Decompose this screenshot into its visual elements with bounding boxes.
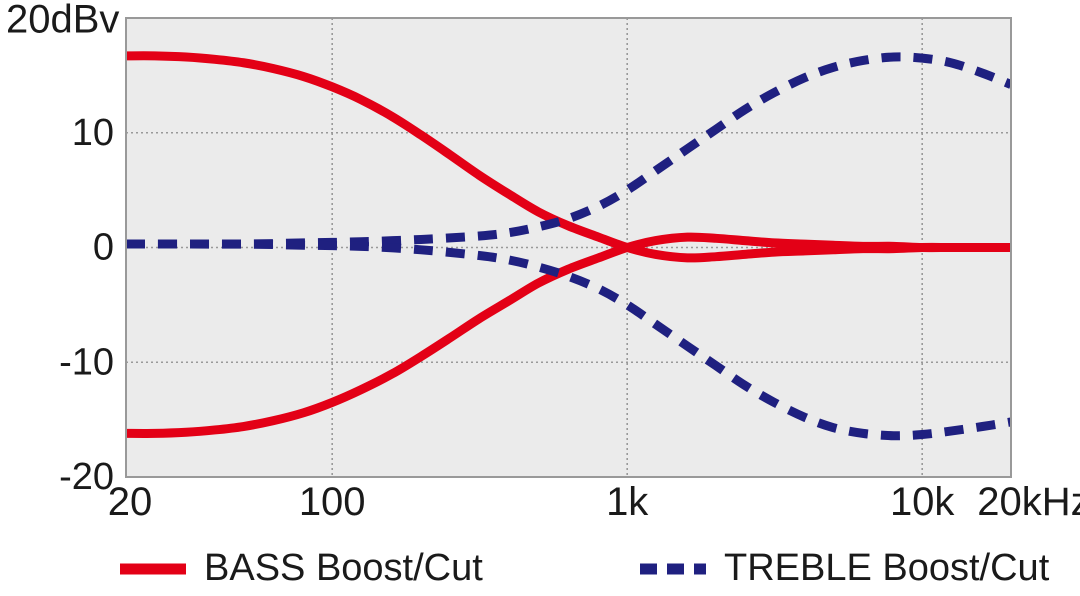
- y-tick-label: -20: [59, 456, 114, 498]
- frequency-response-chart: 100-10-20 201001k10k20kHz 20dBv BASS Boo…: [0, 0, 1080, 596]
- x-tick-label: 1k: [606, 480, 649, 524]
- chart-canvas: 100-10-20 201001k10k20kHz 20dBv BASS Boo…: [0, 0, 1080, 596]
- x-tick-label: 100: [299, 480, 366, 524]
- legend-label: TREBLE Boost/Cut: [724, 547, 1050, 589]
- x-tick-label: 20kHz: [977, 480, 1080, 524]
- y-tick-label: -10: [59, 341, 114, 383]
- x-tick-label: 10k: [890, 480, 955, 524]
- y-tick-label: 10: [72, 112, 114, 154]
- x-tick-label: 20: [108, 480, 153, 524]
- y-axis-caption: 20dBv: [6, 0, 119, 42]
- y-tick-label: 0: [93, 227, 114, 269]
- legend-label: BASS Boost/Cut: [204, 547, 483, 589]
